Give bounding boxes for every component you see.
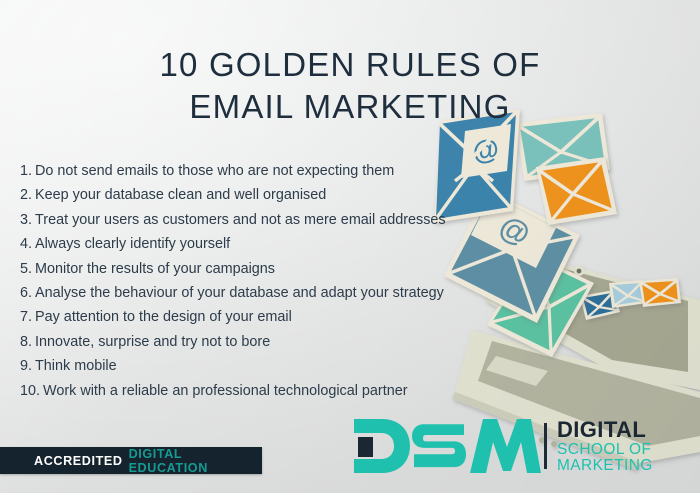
list-item: 2.Keep your database clean and well orga… xyxy=(20,183,490,207)
rule-text: Innovate, surprise and try not to bore xyxy=(35,334,270,350)
title-line-1: 10 Golden Rules of xyxy=(159,46,540,83)
rules-list: 1.Do not send emails to those who are no… xyxy=(20,159,490,403)
title-line-2: Email Marketing xyxy=(0,86,700,128)
logo-word-marketing: MARKETING xyxy=(557,458,653,474)
rule-text: Monitor the results of your campaigns xyxy=(35,261,275,277)
small-envelope-dark-blue xyxy=(580,290,620,320)
list-item: 8.Innovate, surprise and try not to bore xyxy=(20,330,490,354)
small-envelope-orange xyxy=(639,278,681,307)
list-item: 10.Work with a reliable an professional … xyxy=(20,379,490,403)
rule-text: Keep your database clean and well organi… xyxy=(35,187,326,203)
list-item: 9.Think mobile xyxy=(20,354,490,378)
logo-word-digital: DIGITAL xyxy=(557,419,653,440)
rule-text: Think mobile xyxy=(35,358,117,374)
dsm-logo: DIGITAL SCHOOL OF MARKETING xyxy=(352,414,692,478)
accredited-secondary-text: DIGITAL EDUCATION xyxy=(129,447,262,475)
logo-divider xyxy=(544,423,547,469)
rule-number: 6. xyxy=(20,285,32,301)
rule-number: 7. xyxy=(20,309,32,325)
rule-number: 5. xyxy=(20,261,32,277)
envelope-orange-large xyxy=(536,157,617,225)
list-item: 4.Always clearly identify yourself xyxy=(20,232,490,256)
list-item: 3.Treat your users as customers and not … xyxy=(20,208,490,232)
accredited-primary-text: ACCREDITED xyxy=(34,454,123,468)
rule-text: Pay attention to the design of your emai… xyxy=(35,309,292,325)
rule-text: Analyse the behaviour of your database a… xyxy=(35,285,444,301)
rule-number: 8. xyxy=(20,334,32,350)
logo-word-school-of: SCHOOL OF xyxy=(557,442,653,458)
envelope-green xyxy=(487,253,594,357)
list-item: 6.Analyse the behaviour of your database… xyxy=(20,281,490,305)
accredited-banner: ACCREDITED DIGITAL EDUCATION xyxy=(0,447,262,474)
list-item: 1.Do not send emails to those who are no… xyxy=(20,159,490,183)
logo-wordmark: DIGITAL SCHOOL OF MARKETING xyxy=(557,419,653,473)
list-item: 7.Pay attention to the design of your em… xyxy=(20,305,490,329)
small-envelope-light-blue xyxy=(609,280,647,308)
poster-canvas: @ @ xyxy=(0,0,700,493)
at-symbol-slate: @ xyxy=(494,210,535,252)
page-title: 10 Golden Rules of Email Marketing xyxy=(0,44,700,127)
rule-number: 2. xyxy=(20,187,32,203)
rule-number: 3. xyxy=(20,212,32,228)
rule-number: 9. xyxy=(20,358,32,374)
dsm-monogram-icon xyxy=(352,415,542,477)
rule-text: Treat your users as customers and not as… xyxy=(35,212,446,228)
rule-text: Work with a reliable an professional tec… xyxy=(43,383,408,399)
rule-text: Always clearly identify yourself xyxy=(35,236,230,252)
rule-number: 10. xyxy=(20,383,40,399)
list-item: 5.Monitor the results of your campaigns xyxy=(20,257,490,281)
rule-number: 4. xyxy=(20,236,32,252)
rule-number: 1. xyxy=(20,163,32,179)
rule-text: Do not send emails to those who are not … xyxy=(35,163,394,179)
